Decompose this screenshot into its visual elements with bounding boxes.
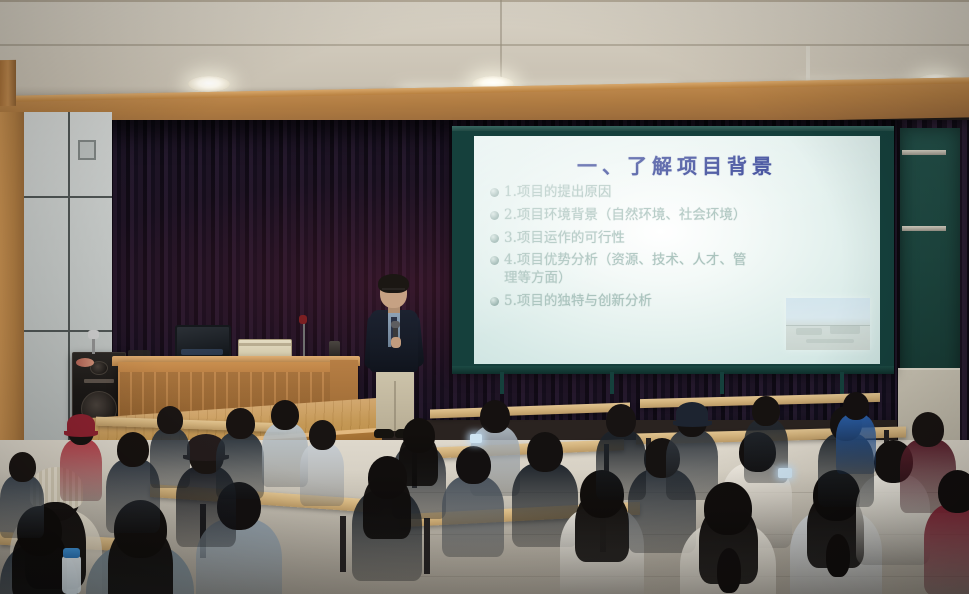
- audience-member-head: [226, 408, 255, 439]
- audience-member-head: [938, 470, 969, 513]
- audience-member-head: [912, 412, 944, 447]
- audience-member-head: [606, 404, 636, 437]
- eyeglasses-icon: [382, 288, 405, 296]
- photo-detail: [806, 339, 854, 343]
- bullet-dot-icon: [490, 234, 499, 243]
- slide-bullet: 1.项目的提出原因: [490, 184, 864, 202]
- downlight-icon: [188, 76, 230, 92]
- audience-member-head: [309, 420, 336, 450]
- amplifier-strip: [239, 343, 291, 346]
- bullet-dot-icon: [490, 211, 499, 220]
- water-bottle: [62, 556, 81, 594]
- bullet-dot-icon: [490, 256, 499, 265]
- audience-member-head: [527, 432, 563, 472]
- speaker-badge: [76, 358, 94, 367]
- wall-socket-plate-icon: [78, 140, 96, 160]
- microphone-icon: [88, 330, 99, 339]
- projected-slide: 一、了解项目背景 1.项目的提出原因 2.项目环境背景（自然环境、社会环境） 3…: [474, 136, 880, 364]
- screen-leg: [840, 372, 844, 394]
- chalkboard-rail: [902, 150, 946, 155]
- slide-bullet-text: 1.项目的提出原因: [504, 184, 864, 202]
- bullet-dot-icon: [490, 297, 499, 306]
- slide-embedded-photo: [786, 298, 870, 350]
- slide-bullet-text: 4.项目优势分析（资源、技术、人才、管: [504, 252, 864, 270]
- audience-member-body: [442, 476, 504, 557]
- slide-bullet-continuation: 理等方面）: [490, 270, 864, 288]
- audience-member-head: [157, 406, 183, 434]
- water-bottle-cap: [63, 548, 80, 558]
- presenter-shoe-left: [374, 429, 394, 438]
- screen-leg: [720, 372, 724, 394]
- audience-member-body: [150, 428, 190, 488]
- handheld-microphone-icon: [391, 321, 400, 328]
- desk-microphone-stand: [303, 321, 305, 357]
- panel-seam: [68, 112, 70, 442]
- green-chalkboard: [900, 128, 960, 408]
- audience-member-head: [456, 446, 491, 484]
- screen-leg: [610, 372, 614, 394]
- slide-title: 一、了解项目背景: [474, 150, 880, 179]
- chalkboard-rail: [902, 226, 946, 231]
- audience-member-head: [752, 396, 780, 426]
- baseball-cap-brim: [673, 421, 712, 427]
- speaker-label: [84, 379, 114, 383]
- audience-member-body: [924, 504, 969, 594]
- wall-wood-trim: [0, 112, 24, 442]
- audience-member-ponytail: [717, 548, 741, 593]
- desk-leg: [340, 516, 346, 572]
- desk-leg: [424, 518, 430, 574]
- audience-member-head: [117, 432, 149, 467]
- slide-bullet: 2.项目环境背景（自然环境、社会环境）: [490, 207, 864, 225]
- audience-member-head: [9, 452, 36, 482]
- slide-bullet-text: 理等方面）: [504, 270, 864, 288]
- audience-member-body: [300, 443, 344, 506]
- screen-leg: [500, 372, 504, 394]
- presenter-hand: [391, 337, 401, 348]
- audience-member-body: [836, 414, 876, 474]
- photo-detail: [796, 328, 822, 335]
- audience-member-head: [271, 400, 299, 430]
- slide-bullet-text: 2.项目环境背景（自然环境、社会环境）: [504, 207, 864, 225]
- lecture-hall-photo: 一、了解项目背景 1.项目的提出原因 2.项目环境背景（自然环境、社会环境） 3…: [0, 0, 969, 594]
- audience-member-hair: [363, 474, 411, 539]
- ceiling-seam: [0, 0, 969, 2]
- panel-seam: [24, 196, 112, 198]
- slide-bullet-text: 3.项目运作的可行性: [504, 230, 864, 248]
- valance-post: [0, 60, 16, 106]
- photo-detail: [830, 325, 860, 334]
- screen-bottom-bar: [452, 366, 894, 374]
- audience-member-head: [480, 400, 510, 433]
- baseball-cap-brim: [64, 431, 98, 437]
- audience-member-body: [0, 475, 44, 538]
- audience-member-hair: [108, 524, 173, 594]
- phone-screen: [470, 434, 482, 443]
- bullet-dot-icon: [490, 188, 499, 197]
- audience-member-body: [216, 432, 264, 499]
- slide-bullet: 3.项目运作的可行性: [490, 230, 864, 248]
- monitor-glow: [181, 349, 223, 355]
- ceiling-seam: [0, 44, 969, 46]
- audience-member-ponytail: [826, 534, 850, 577]
- slide-bullet-list: 1.项目的提出原因 2.项目环境背景（自然环境、社会环境） 3.项目运作的可行性…: [490, 184, 864, 316]
- audience-member-body: [60, 439, 102, 501]
- microphone-icon: [299, 315, 307, 324]
- audience-member-hair: [575, 490, 629, 562]
- audience-member-head: [843, 392, 869, 420]
- presenter-leg-seam: [394, 381, 396, 431]
- audience-member-body: [596, 430, 646, 500]
- slide-bullet: 4.项目优势分析（资源、技术、人才、管: [490, 252, 864, 270]
- phone-screen: [778, 468, 792, 478]
